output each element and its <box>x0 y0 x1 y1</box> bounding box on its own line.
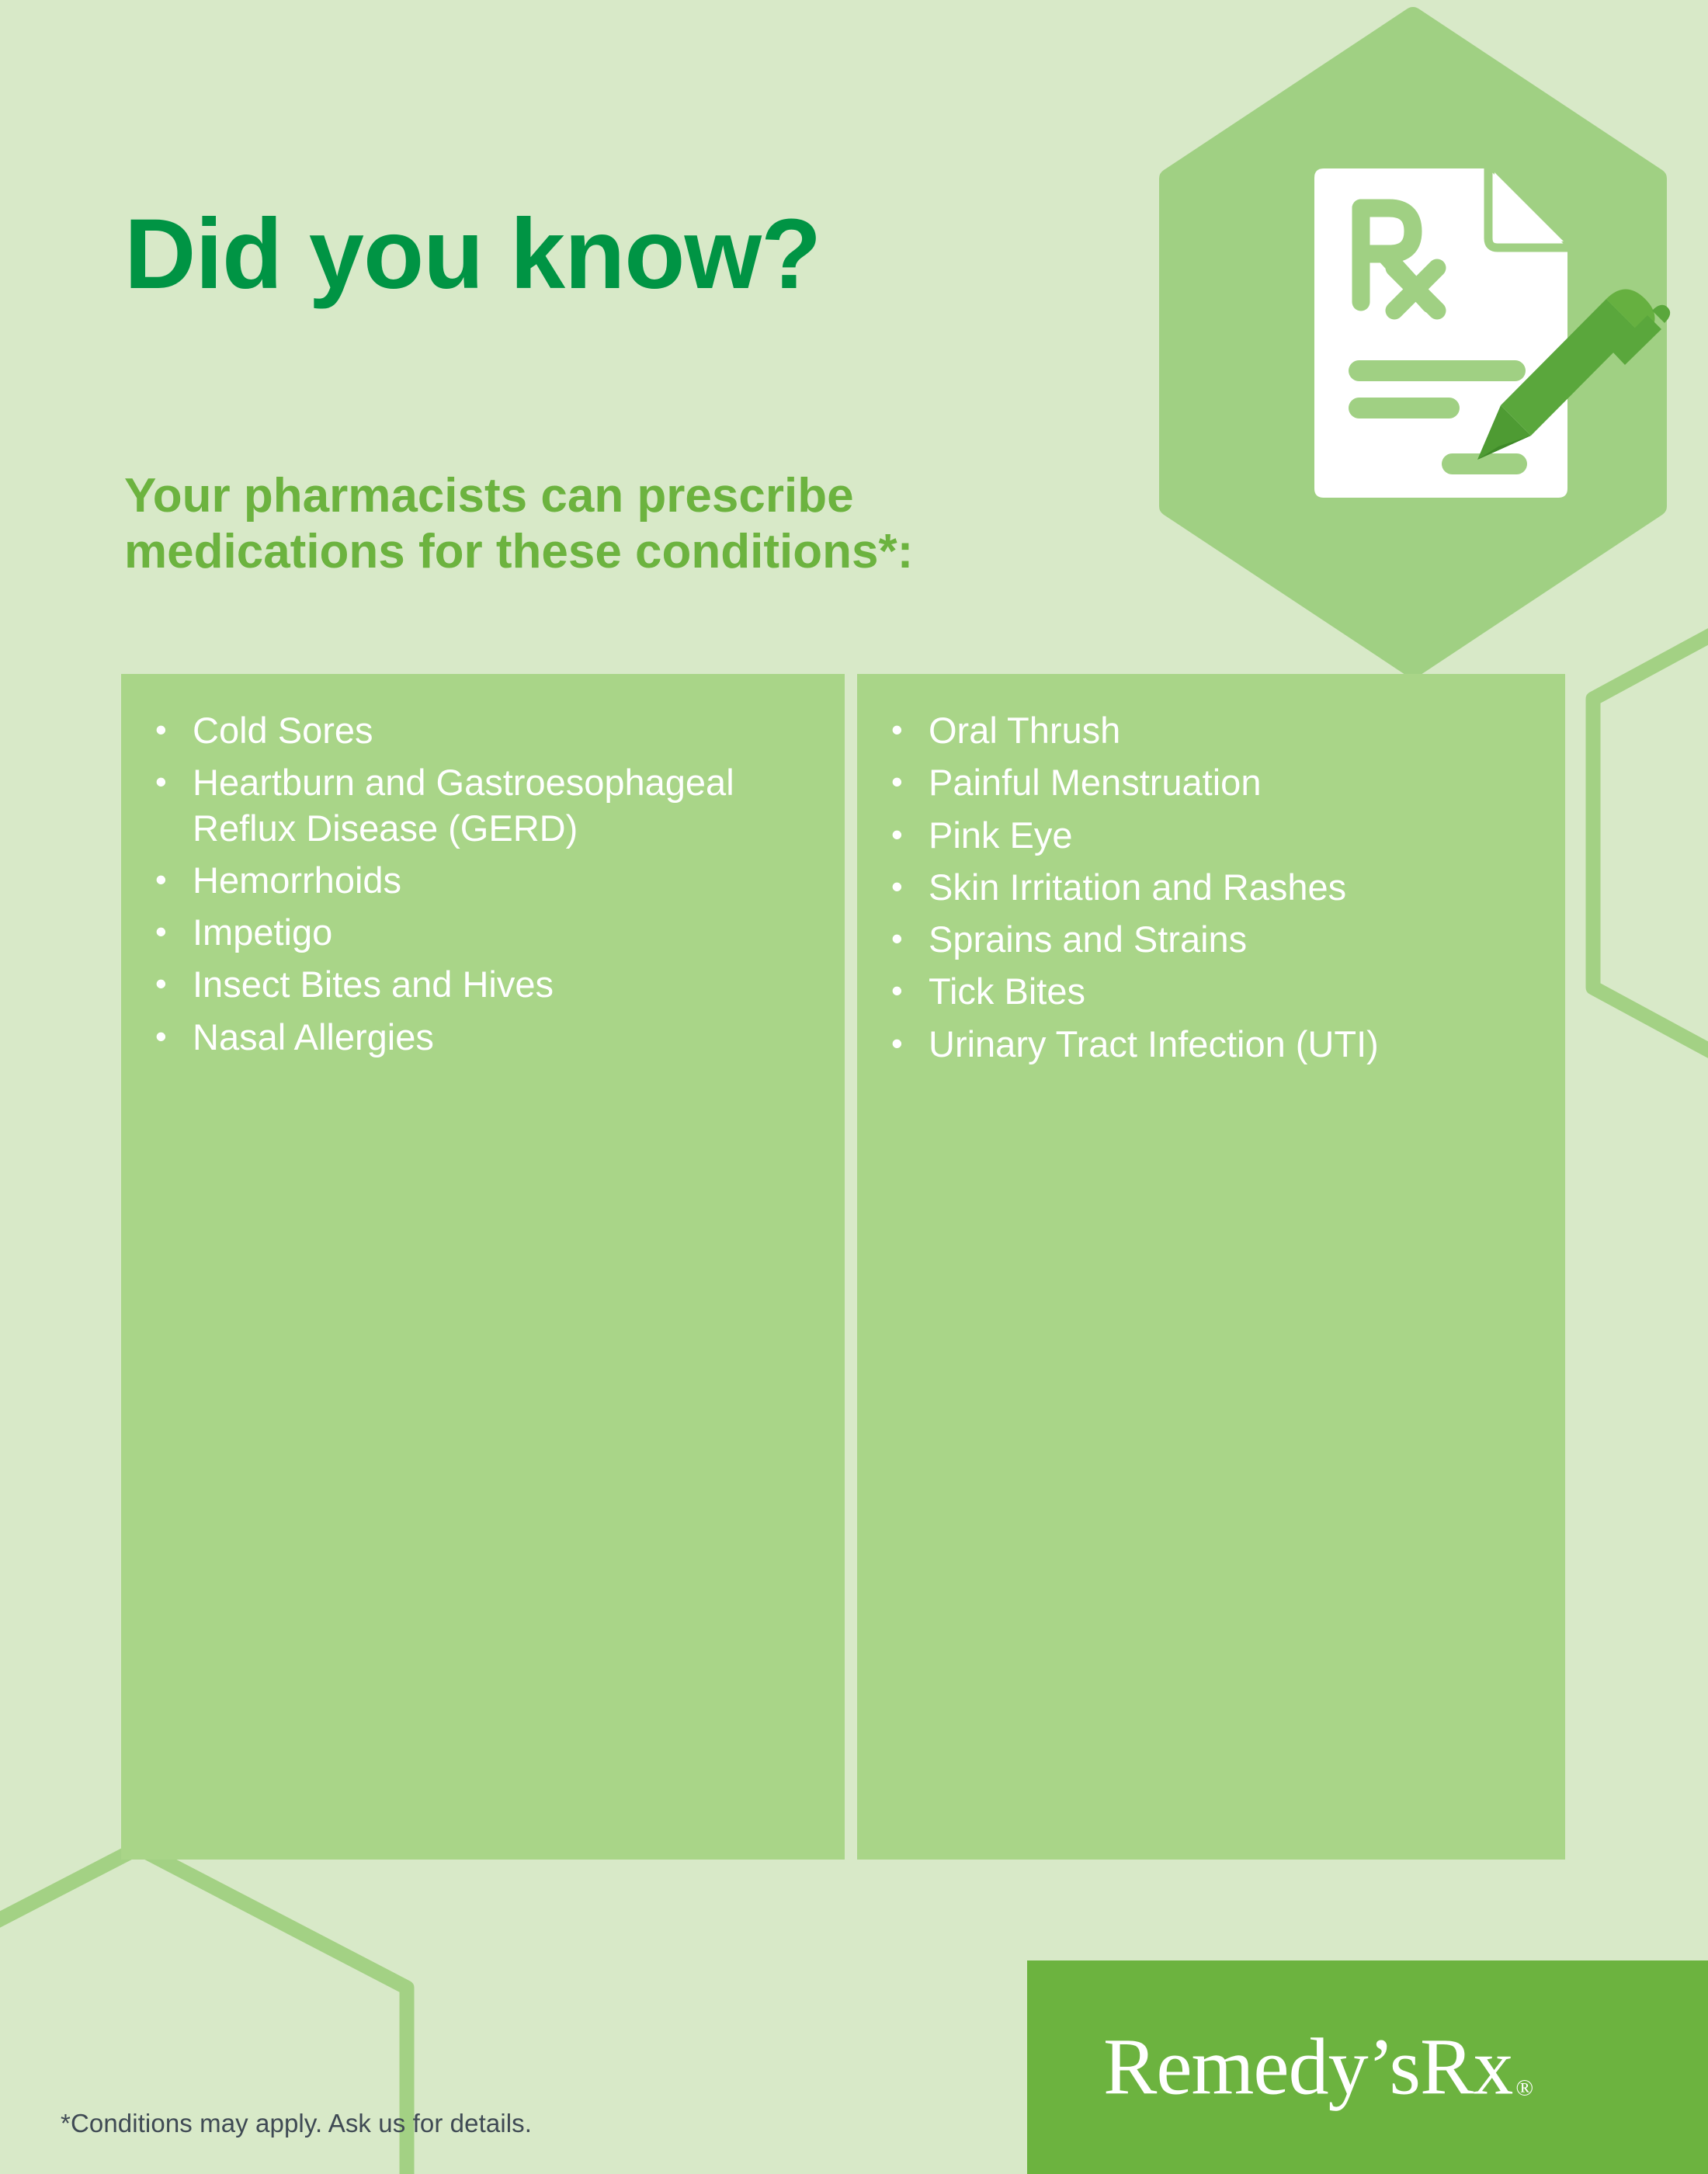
page-subtitle-line-1: Your pharmacists can prescribe <box>124 468 1095 524</box>
brand-logo: Remedy’sRx® <box>1103 2021 1530 2113</box>
list-item: Insect Bites and Hives <box>152 962 814 1007</box>
list-item: Oral Thrush <box>888 708 1534 753</box>
conditions-card-left: Cold Sores Heartburn and Gastroesophagea… <box>121 674 845 1860</box>
list-item: Impetigo <box>152 910 814 955</box>
conditions-list-left: Cold Sores Heartburn and Gastroesophagea… <box>152 708 814 1060</box>
list-item: Sprains and Strains <box>888 917 1534 962</box>
rx-symbol-icon <box>1361 208 1437 311</box>
page-title: Did you know? <box>124 205 821 304</box>
conditions-card-right: Oral Thrush Painful Menstruation Pink Ey… <box>857 674 1565 1860</box>
registered-trademark-symbol: ® <box>1515 2075 1533 2101</box>
list-item: Painful Menstruation <box>888 760 1534 805</box>
poster-canvas: Did you know? Your pharmacists can presc… <box>0 0 1708 2174</box>
list-item: Hemorrhoids <box>152 858 814 903</box>
brand-logo-text: Remedy’sRx <box>1103 2023 1512 2112</box>
document-line-1 <box>1349 360 1526 381</box>
list-item: Tick Bites <box>888 969 1534 1014</box>
disclaimer-footnote: *Conditions may apply. Ask us for detail… <box>61 2109 532 2138</box>
list-item: Urinary Tract Infection (UTI) <box>888 1022 1534 1067</box>
prescription-document-icon <box>1314 168 1567 498</box>
page-subtitle-line-2: medications for these conditions*: <box>124 524 1095 580</box>
document-line-2 <box>1349 398 1460 418</box>
hexagon-outline-right-icon <box>1593 556 1708 1130</box>
pencil-icon <box>1477 290 1670 460</box>
list-item: Skin Irritation and Rashes <box>888 865 1534 910</box>
document-signature-line <box>1442 453 1527 474</box>
hexagon-badge-icon <box>1169 17 1657 668</box>
conditions-panel: Cold Sores Heartburn and Gastroesophagea… <box>121 674 1565 1860</box>
list-item: Nasal Allergies <box>152 1015 814 1060</box>
conditions-list-right: Oral Thrush Painful Menstruation Pink Ey… <box>888 708 1534 1067</box>
list-item: Pink Eye <box>888 813 1534 858</box>
list-item: Cold Sores <box>152 708 814 753</box>
list-item: Heartburn and Gastroesophageal Reflux Di… <box>152 760 814 851</box>
page-subtitle: Your pharmacists can prescribe medicatio… <box>124 468 1095 580</box>
